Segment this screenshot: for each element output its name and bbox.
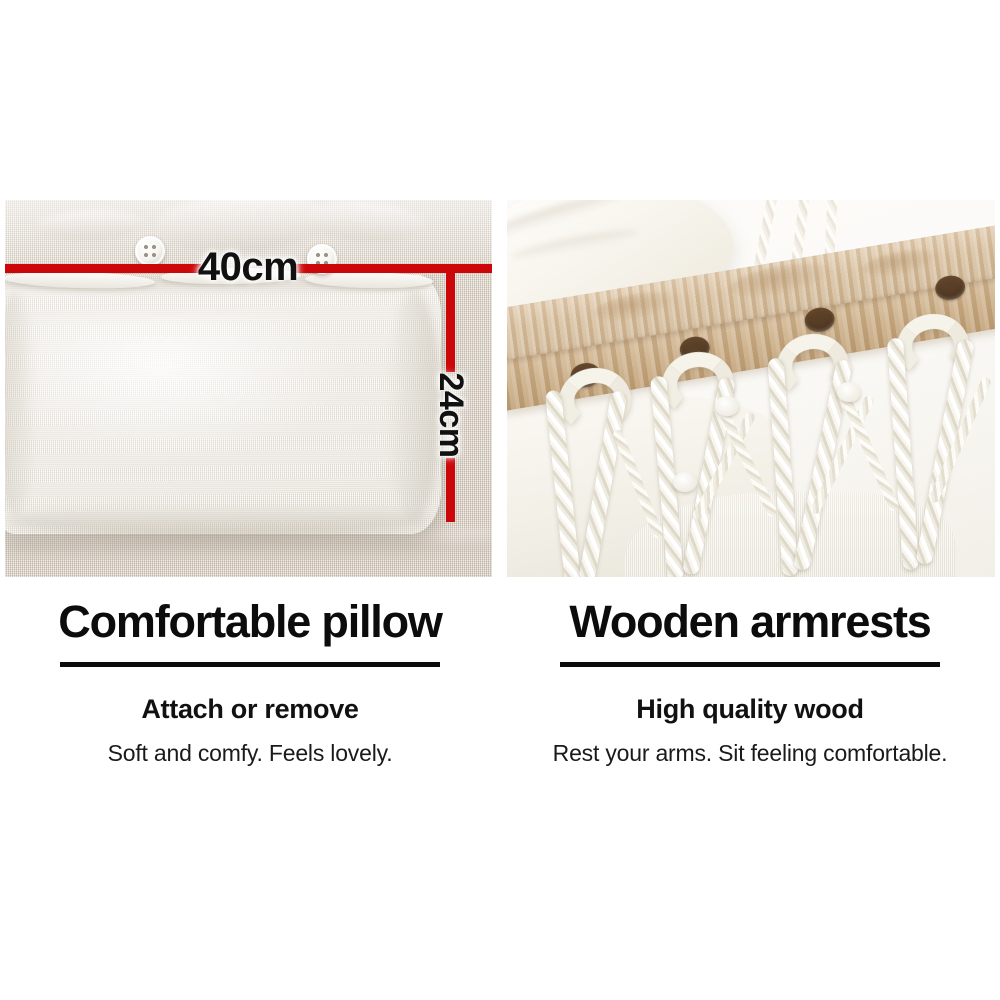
pillow-highlight <box>27 314 357 464</box>
pillow-button-left-icon <box>135 236 165 266</box>
width-dimension-label: 40cm <box>201 244 295 290</box>
feature-collage: 40cm 24cm <box>0 0 1000 1000</box>
pillow-object <box>5 274 441 534</box>
title-divider <box>560 662 940 667</box>
feature-description: Soft and comfy. Feels lovely. <box>0 739 500 767</box>
feature-subtitle: Attach or remove <box>0 693 500 725</box>
rope-knot <box>715 396 739 416</box>
height-dimension-line-bottom <box>446 458 455 522</box>
width-dimension-line-left <box>5 264 201 273</box>
cushion-crease <box>510 225 640 264</box>
height-dimension-label: 24cm <box>404 383 492 447</box>
feature-title: Comfortable pillow <box>0 596 500 648</box>
feature-description: Rest your arms. Sit feeling comfortable. <box>500 739 1000 767</box>
feature-title: Wooden armrests <box>500 596 1000 648</box>
rope-knot <box>673 472 697 492</box>
height-dimension-line-top <box>446 268 455 372</box>
pillow-bottom-shadow <box>7 504 428 538</box>
title-divider <box>60 662 440 667</box>
wooden-armrest-photo <box>507 200 995 577</box>
width-dimension-line-right <box>295 264 492 273</box>
pillow-dimension-photo: 40cm 24cm <box>5 200 492 577</box>
feature-text-pillow: Comfortable pillow Attach or remove Soft… <box>0 596 500 767</box>
feature-subtitle: High quality wood <box>500 693 1000 725</box>
feature-text-armrests: Wooden armrests High quality wood Rest y… <box>500 596 1000 767</box>
rope-knot <box>837 382 861 402</box>
